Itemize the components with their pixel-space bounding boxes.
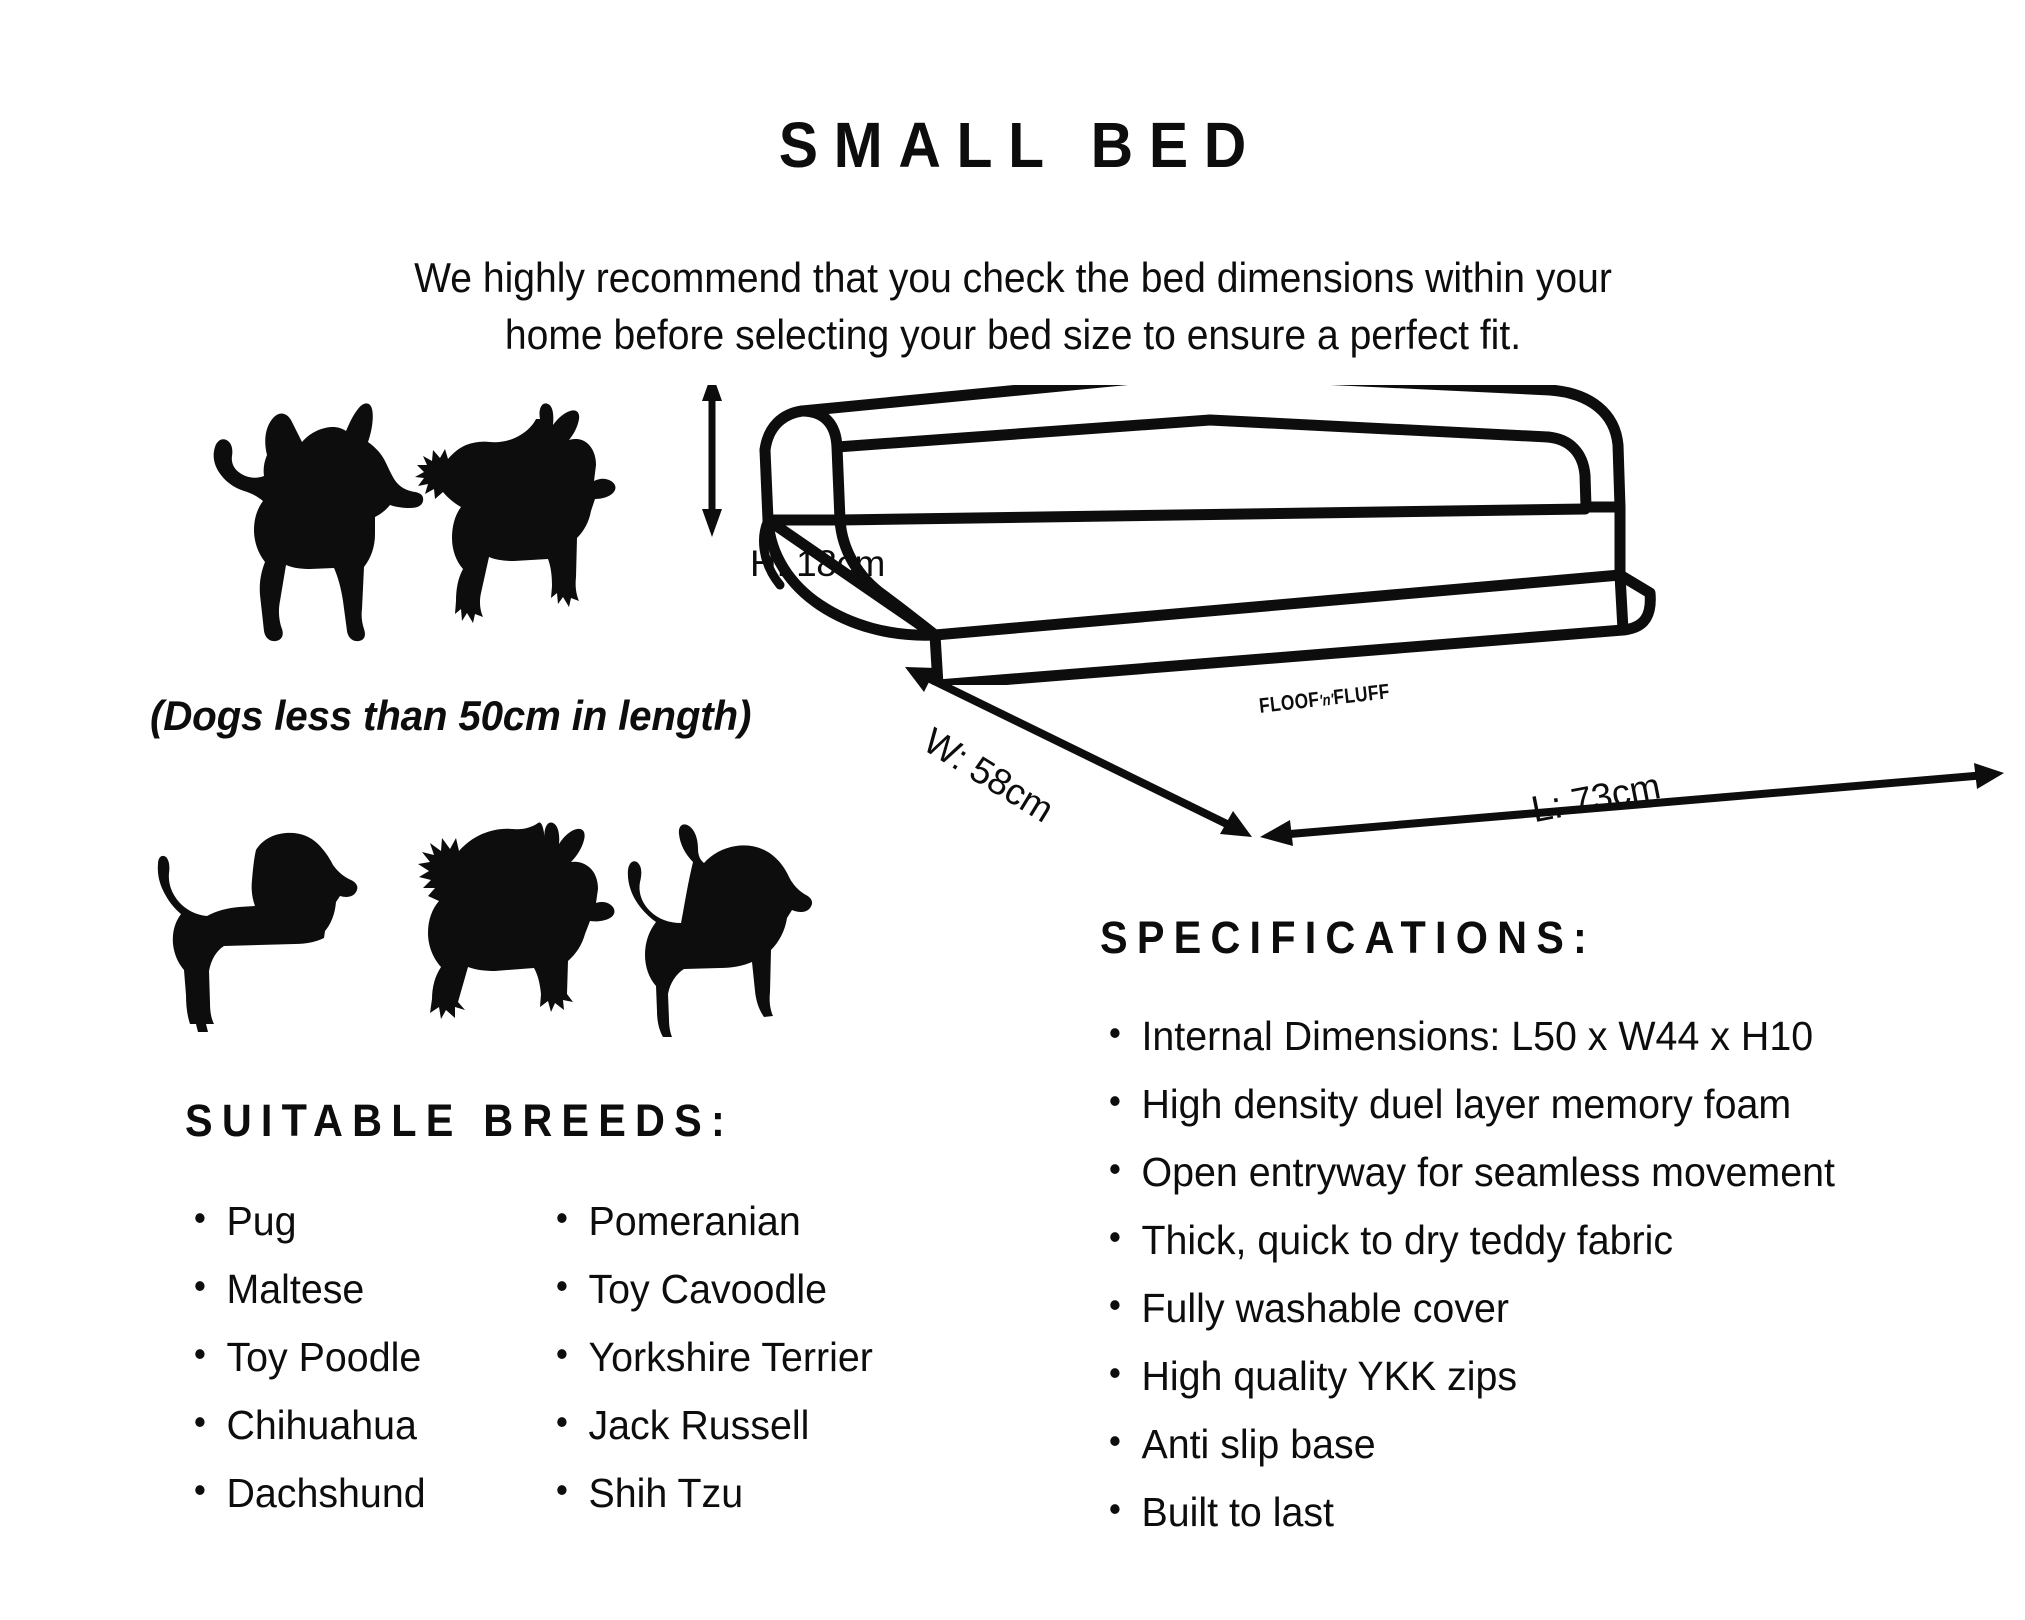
list-item: High quality YKK zips: [1105, 1353, 1969, 1401]
dog-silhouettes-bottom-row: [140, 820, 820, 1060]
cushion-inner-back-edge: [840, 509, 1585, 520]
list-item: Shih Tzu: [552, 1470, 830, 1518]
breeds-column-left: Pug Maltese Toy Poodle Chihuahua Dachshu…: [190, 1198, 480, 1538]
base-right-vertical: [1620, 575, 1623, 630]
list-item: Fully washable cover: [1105, 1285, 1969, 1333]
suitable-breeds-columns: Pug Maltese Toy Poodle Chihuahua Dachshu…: [190, 1198, 950, 1538]
brand-logo-right: FLUFF: [1332, 680, 1391, 709]
base-bottom-edge: [938, 630, 1623, 685]
dogs-size-note: (Dogs less than 50cm in length): [150, 692, 751, 740]
page-subtitle: We highly recommend that you check the b…: [287, 250, 1738, 363]
list-item: Anti slip base: [1105, 1421, 1969, 1469]
brand-logo: FLOOF'n'FLUFF: [1258, 680, 1391, 719]
subtitle-line-1: We highly recommend that you check the b…: [287, 250, 1738, 307]
pomeranian-silhouette: [418, 822, 614, 1019]
bolster-left-inner: [802, 411, 840, 520]
list-item: Pug: [190, 1198, 468, 1246]
list-item: Built to last: [1105, 1489, 1969, 1537]
bed-length-label: L: 73cm: [1528, 765, 1664, 831]
list-item: Open entryway for seamless movement: [1105, 1149, 1969, 1197]
list-item: High density duel layer memory foam: [1105, 1081, 1969, 1129]
bolster-left-front-edge: [765, 450, 768, 520]
specifications-heading: SPECIFICATIONS:: [1100, 912, 1596, 964]
bolster-back-top-rail: [1195, 385, 1550, 390]
size-guide-page: SMALL BED We highly recommend that you c…: [0, 0, 2025, 1620]
bolster-right-inner: [1548, 437, 1586, 507]
bed-height-label: H: 18cm: [750, 543, 885, 585]
list-item: Maltese: [190, 1266, 468, 1314]
bed-width-label: W: 58cm: [916, 720, 1061, 831]
bed-diagram: [690, 385, 2020, 685]
pug-silhouette: [628, 824, 812, 1037]
list-item: Dachshund: [190, 1470, 468, 1518]
breeds-column-right: Pomeranian Toy Cavoodle Yorkshire Terrie…: [552, 1198, 842, 1538]
yorkshire-terrier-silhouette: [415, 403, 615, 623]
list-item: Toy Cavoodle: [552, 1266, 830, 1314]
list-item: Yorkshire Terrier: [552, 1334, 830, 1382]
list-item: Internal Dimensions: L50 x W44 x H10: [1105, 1013, 1969, 1061]
list-item: Chihuahua: [190, 1402, 468, 1450]
bolster-back-inner-rail: [837, 420, 1548, 447]
list-item: Thick, quick to dry teddy fabric: [1105, 1217, 1969, 1265]
suitable-breeds-heading: SUITABLE BREEDS:: [185, 1095, 734, 1147]
list-item: Toy Poodle: [190, 1334, 468, 1382]
page-title: SMALL BED: [81, 108, 1944, 182]
dog-silhouettes-top-row: [150, 395, 730, 665]
list-item: Jack Russell: [552, 1402, 830, 1450]
cushion-front-edge: [935, 575, 1620, 635]
base-left-vertical: [935, 635, 938, 685]
chihuahua-silhouette: [214, 403, 424, 641]
dachshund-silhouette: [158, 833, 358, 1032]
specifications-list: Internal Dimensions: L50 x W44 x H10 Hig…: [1105, 1013, 2005, 1557]
list-item: Pomeranian: [552, 1198, 830, 1246]
brand-logo-left: FLOOF: [1258, 688, 1321, 718]
subtitle-line-2: home before selecting your bed size to e…: [287, 307, 1738, 364]
